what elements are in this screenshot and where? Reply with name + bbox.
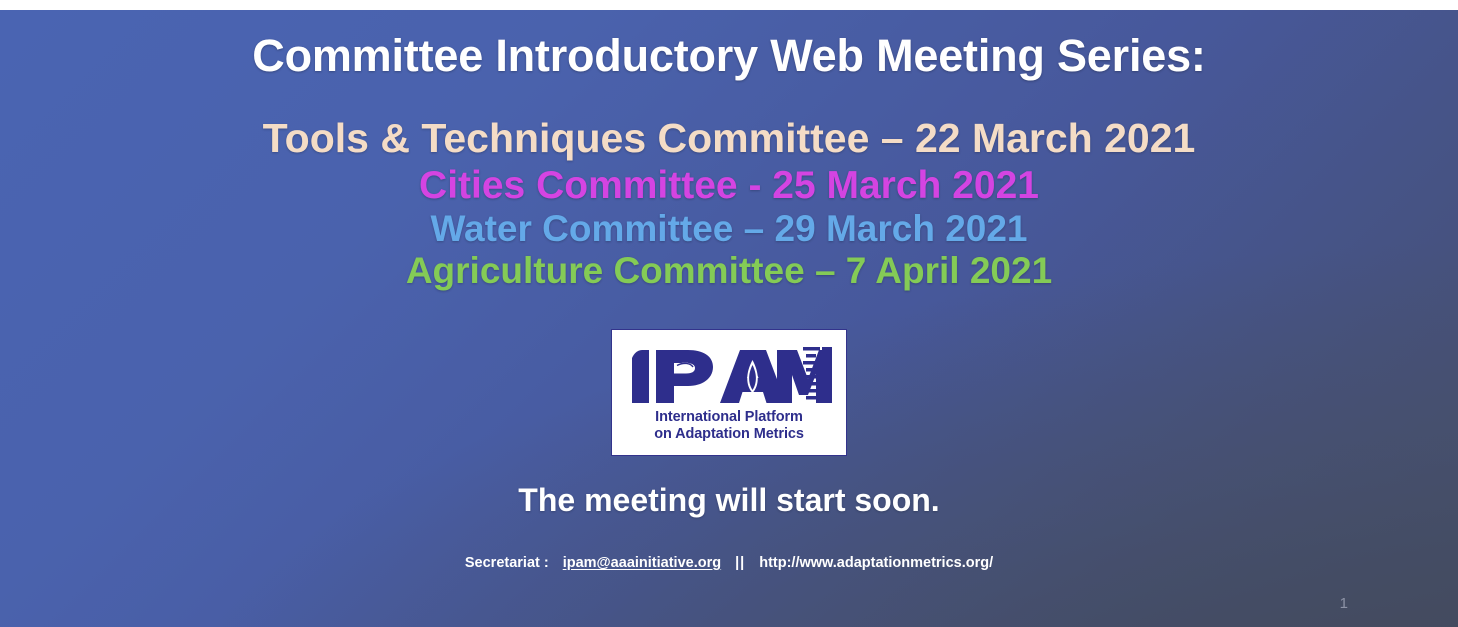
secretariat-footer: Secretariat :ipam@aaainitiative.org||htt… — [0, 555, 1458, 571]
committee-line-cities: Cities Committee - 25 March 2021 — [0, 166, 1458, 210]
secretariat-email-link[interactable]: ipam@aaainitiative.org — [563, 555, 721, 571]
ipam-tagline-line-1: International Platform — [654, 409, 804, 425]
page-number: 1 — [1340, 595, 1348, 612]
committee-line-water: Water Committee – 29 March 2021 — [0, 210, 1458, 252]
presentation-slide: Committee Introductory Web Meeting Serie… — [0, 10, 1458, 627]
committee-schedule-list: Tools & Techniques Committee – 22 March … — [0, 118, 1458, 289]
website-url[interactable]: http://www.adaptationmetrics.org/ — [759, 555, 993, 571]
top-white-strip — [0, 0, 1458, 10]
meeting-status-message: The meeting will start soon. — [0, 482, 1458, 519]
ipam-logo: International Platform on Adaptation Met… — [611, 329, 847, 456]
committee-line-agriculture: Agriculture Committee – 7 April 2021 — [0, 252, 1458, 289]
secretariat-label: Secretariat : — [465, 555, 549, 571]
ipam-tagline-line-2: on Adaptation Metrics — [654, 426, 804, 442]
ipam-wordmark-icon — [627, 343, 832, 405]
ipam-logo-tagline: International Platform on Adaptation Met… — [654, 409, 804, 441]
page-title: Committee Introductory Web Meeting Serie… — [0, 30, 1458, 82]
committee-line-tools-techniques: Tools & Techniques Committee – 22 March … — [0, 118, 1458, 166]
footer-separator: || — [735, 555, 745, 571]
